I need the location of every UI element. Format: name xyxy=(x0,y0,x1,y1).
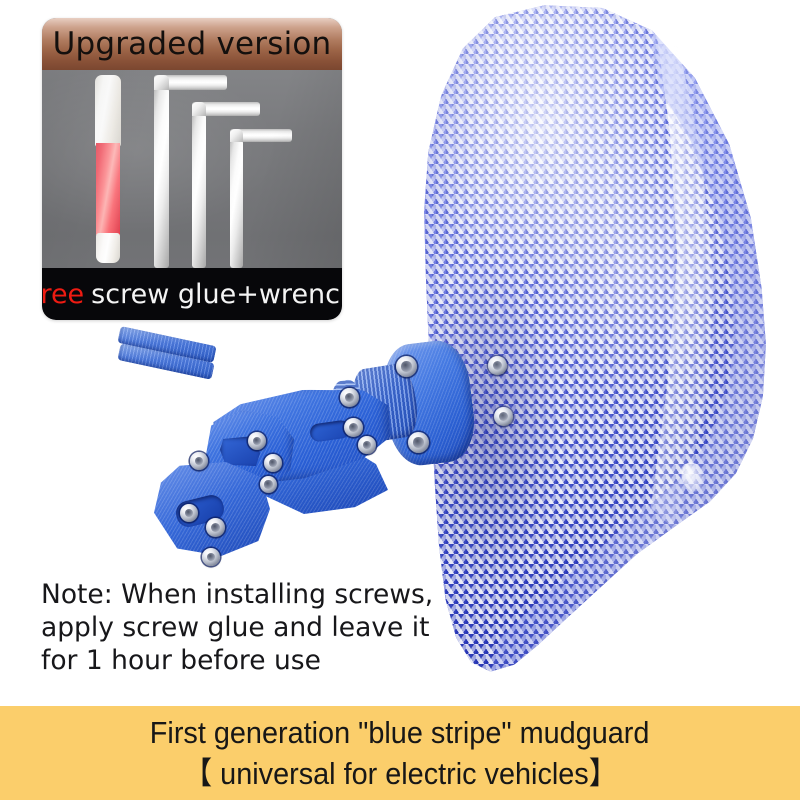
hex-wrench-medium-shaft xyxy=(192,114,206,268)
hex-wrench-large-shaft xyxy=(154,88,169,268)
upgraded-version-banner: Upgraded version xyxy=(42,18,342,70)
free-accessories-bar: Free screw glue+wrench xyxy=(42,268,342,320)
bracket-bolt-arm-lower xyxy=(260,476,277,493)
hex-wrench-medium-elbow xyxy=(192,102,206,116)
bracket-bolt-clamp-upper xyxy=(180,504,198,522)
bracket-bolt-arm-mid xyxy=(264,454,282,472)
product-image-stage: Upgraded version xyxy=(0,0,800,706)
note-line-1: Note: When installing screws, xyxy=(41,578,471,611)
mudguard-screw-upper-icon xyxy=(488,356,507,375)
upgraded-version-label: Upgraded version xyxy=(53,26,332,62)
mounting-bracket-assembly xyxy=(118,336,488,576)
bracket-bolt-clamp-mid xyxy=(206,518,225,537)
caption-line-2: 【 universal for electric vehicles】 xyxy=(183,753,617,794)
free-tools-photo xyxy=(42,70,342,268)
glue-tube-icon xyxy=(95,75,121,263)
product-caption-banner: First generation "blue stripe" mudguard … xyxy=(0,706,800,800)
hex-wrench-small-shaft xyxy=(230,140,243,268)
hex-wrench-small-elbow xyxy=(230,129,243,142)
bracket-bolt-clamp-lower xyxy=(202,548,220,566)
glue-tube-base xyxy=(96,233,120,263)
bracket-bolt-flange-top xyxy=(396,356,417,377)
glue-tube-body xyxy=(96,143,120,235)
installation-note: Note: When installing screws, apply scre… xyxy=(41,578,471,677)
glue-tube-cap xyxy=(95,75,121,147)
mudguard-screw-lower-icon xyxy=(494,407,513,426)
free-label: Free xyxy=(42,279,84,310)
free-items-label: screw glue+wrench xyxy=(91,279,342,310)
caption-line-1: First generation "blue stripe" mudguard xyxy=(150,712,650,753)
upgraded-version-card: Upgraded version xyxy=(42,18,342,320)
bracket-bolt-collar-lower xyxy=(358,436,376,454)
hex-wrench-large-elbow xyxy=(154,75,169,90)
bracket-bolt-collar-mid xyxy=(344,418,363,437)
bracket-bolt-collar-upper xyxy=(340,388,359,407)
bracket-bolt-flange-bottom xyxy=(408,432,429,453)
bracket-bolt-knuckle xyxy=(190,452,208,470)
note-line-2: apply screw glue and leave it xyxy=(41,611,471,644)
note-line-3: for 1 hour before use xyxy=(41,644,471,677)
bracket-bolt-arm-upper xyxy=(248,432,266,450)
